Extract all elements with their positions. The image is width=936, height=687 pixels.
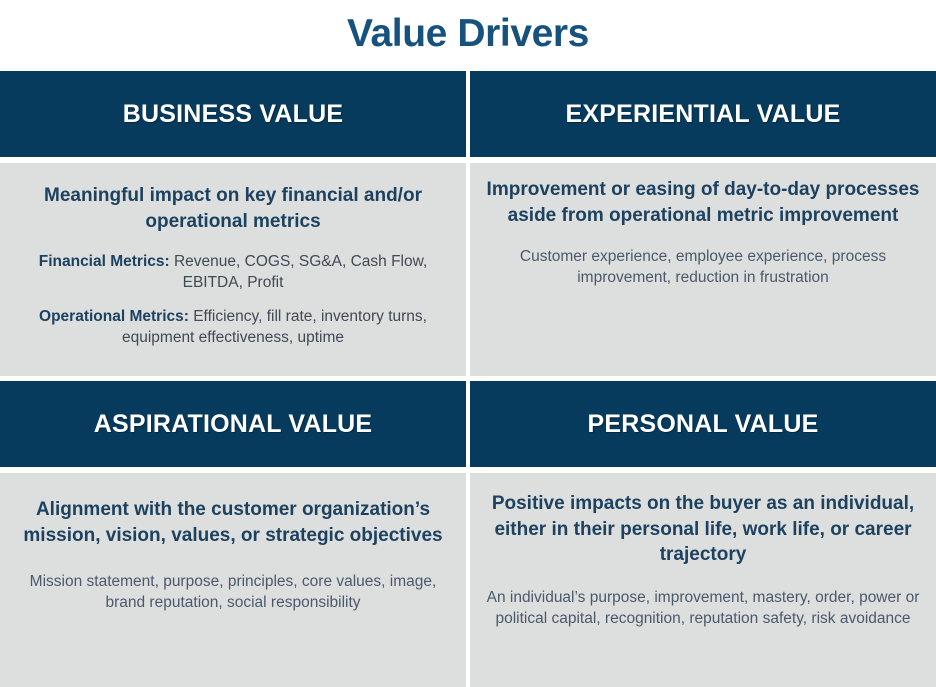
quadrant-lead-business-value: Meaningful impact on key financial and/o… [26,183,440,234]
quadrant-lead-aspirational-value: Alignment with the customer organization… [14,497,452,548]
quadrant-detail-personal-value: An individual’s purpose, improvement, ma… [484,588,922,630]
quadrant-experiential-value: EXPERIENTIAL VALUE Improvement or easing… [470,66,936,376]
quadrant-personal-value: PERSONAL VALUE Positive impacts on the b… [470,376,936,687]
quadrant-title-aspirational-value: ASPIRATIONAL VALUE [94,410,373,439]
title-bar: Value Drivers [0,0,936,66]
quadrant-lead-personal-value: Positive impacts on the buyer as an indi… [484,491,922,568]
quadrant-header-experiential-value: EXPERIENTIAL VALUE [470,71,936,157]
quadrant-title-experiential-value: EXPERIENTIAL VALUE [566,100,841,129]
detail-label-operational-metrics: Operational Metrics: [39,308,189,325]
quadrant-header-business-value: BUSINESS VALUE [0,71,466,157]
quadrant-aspirational-value: ASPIRATIONAL VALUE Alignment with the cu… [0,376,466,687]
quadrant-detail-operational-metrics: Operational Metrics: Efficiency, fill ra… [26,307,440,349]
value-drivers-slide: Value Drivers BUSINESS VALUE Meaningful … [0,0,936,687]
quadrant-detail-financial-metrics: Financial Metrics: Revenue, COGS, SG&A, … [26,252,440,294]
quadrant-header-aspirational-value: ASPIRATIONAL VALUE [0,381,466,467]
quadrant-body-experiential-value: Improvement or easing of day-to-day proc… [470,163,936,376]
quadrant-business-value: BUSINESS VALUE Meaningful impact on key … [0,66,466,376]
quadrant-title-business-value: BUSINESS VALUE [123,100,343,129]
page-title: Value Drivers [347,14,589,53]
quadrant-header-personal-value: PERSONAL VALUE [470,381,936,467]
detail-label-financial-metrics: Financial Metrics: [39,253,170,270]
detail-text-financial-metrics: Revenue, COGS, SG&A, Cash Flow, EBITDA, … [170,253,428,291]
quadrant-body-business-value: Meaningful impact on key financial and/o… [0,163,466,376]
value-drivers-matrix: BUSINESS VALUE Meaningful impact on key … [0,66,936,687]
quadrant-lead-experiential-value: Improvement or easing of day-to-day proc… [486,177,920,228]
quadrant-title-personal-value: PERSONAL VALUE [587,410,818,439]
quadrant-body-personal-value: Positive impacts on the buyer as an indi… [470,473,936,687]
quadrant-detail-aspirational-value: Mission statement, purpose, principles, … [14,572,452,614]
quadrant-detail-experiential-value: Customer experience, employee experience… [486,247,920,289]
quadrant-body-aspirational-value: Alignment with the customer organization… [0,473,466,687]
